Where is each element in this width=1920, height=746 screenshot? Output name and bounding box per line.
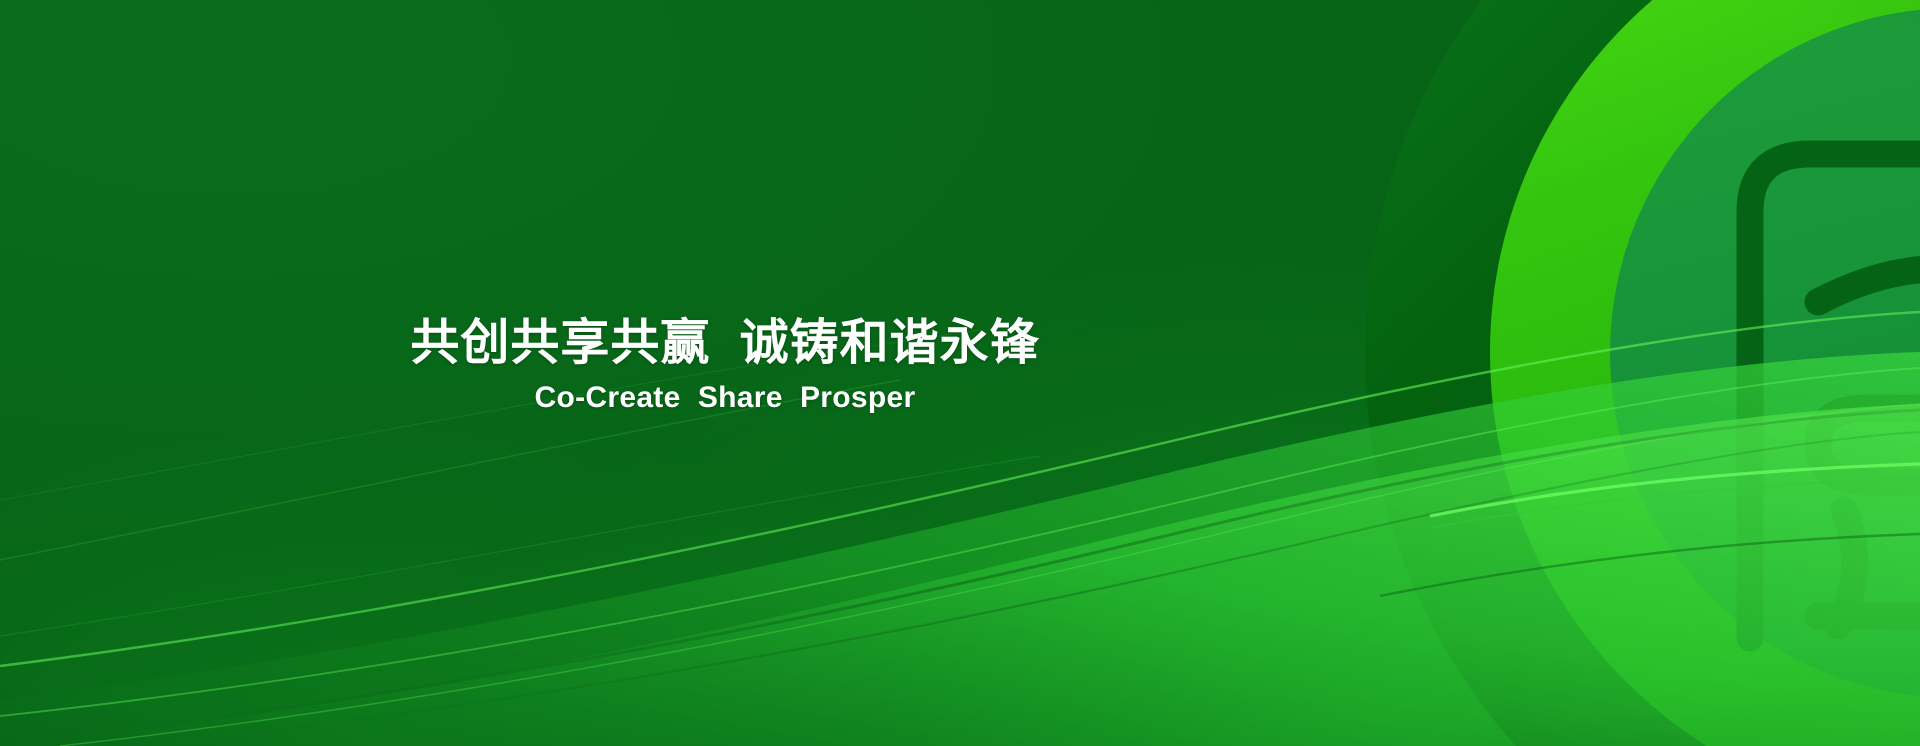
slogan-block: 共创共享共赢 诚铸和谐永锋 Co-Create Share Prosper bbox=[0, 318, 1450, 414]
slogan-headline-chinese: 共创共享共赢 诚铸和谐永锋 bbox=[0, 318, 1450, 370]
hero-banner: 共创共享共赢 诚铸和谐永锋 Co-Create Share Prosper bbox=[0, 0, 1920, 746]
slogan-subline-english: Co-Create Share Prosper bbox=[0, 381, 1450, 414]
